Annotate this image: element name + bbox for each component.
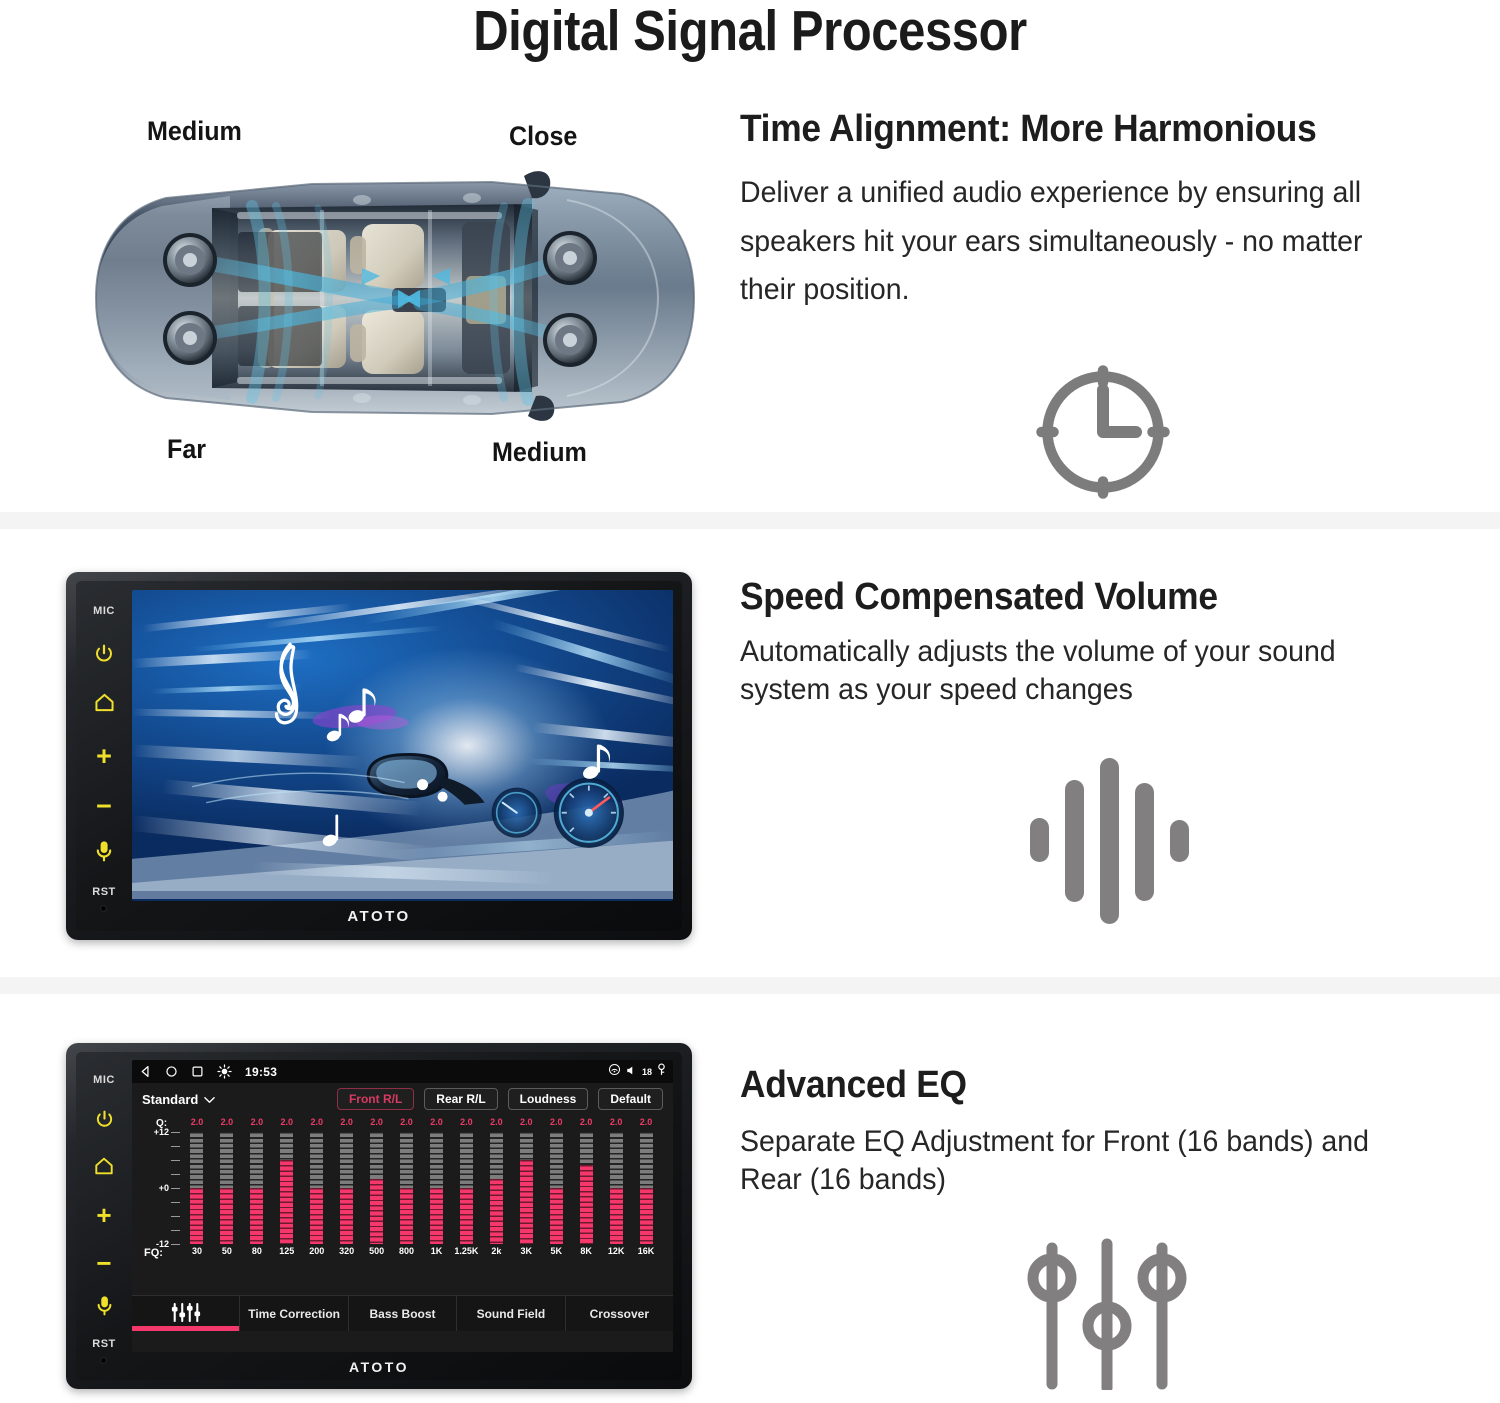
product-feature-page: Digital Signal Processor Medium Close Fa… <box>0 0 1500 1403</box>
eq-bar-fill <box>430 1188 443 1244</box>
eq-bar-fill <box>490 1179 503 1244</box>
eq-band[interactable] <box>541 1132 571 1244</box>
section-divider-2 <box>0 977 1500 994</box>
eq-band[interactable] <box>451 1132 481 1244</box>
tab-bass-boost[interactable]: Bass Boost <box>349 1296 457 1331</box>
frequency-label: 800 <box>392 1246 422 1260</box>
eq-app: 19:53 <box>132 1060 673 1352</box>
eq-bar-track[interactable] <box>550 1132 563 1244</box>
section-2-heading: Speed Compensated Volume <box>740 576 1410 619</box>
speaker-rear-left <box>163 233 217 287</box>
page-title: Digital Signal Processor <box>105 0 1395 64</box>
eq-toolbar: Standard Front R/L Rear R/L L <box>132 1083 673 1115</box>
eq-bar-track[interactable] <box>220 1132 233 1244</box>
frequency-label: 50 <box>212 1246 242 1260</box>
power-icon[interactable] <box>76 643 132 670</box>
driving-scene-wallpaper <box>132 590 673 901</box>
frequency-label: 8K <box>571 1246 601 1260</box>
frequency-label: 200 <box>302 1246 332 1260</box>
unit-inner-eq: MIC + − <box>76 1052 682 1380</box>
eq-bar-fill <box>610 1188 623 1244</box>
eq-band[interactable] <box>302 1132 332 1244</box>
eq-band[interactable] <box>392 1132 422 1244</box>
key-icon <box>657 1063 666 1081</box>
car-label-front-left: Medium <box>147 116 242 147</box>
frequency-label: 12K <box>601 1246 631 1260</box>
back-icon[interactable] <box>139 1065 152 1078</box>
clock-icon <box>1028 357 1178 507</box>
eq-band[interactable] <box>571 1132 601 1244</box>
car-speaker-diagram: Medium Close Far Medium <box>62 104 722 484</box>
eq-bar-track[interactable] <box>400 1132 413 1244</box>
eq-band[interactable] <box>212 1132 242 1244</box>
eq-sliders-icon <box>1026 1238 1188 1390</box>
eq-bar-fill <box>460 1188 473 1244</box>
eq-bar-fill <box>310 1188 323 1244</box>
car-topview-illustration <box>62 148 722 448</box>
eq-bar-track[interactable] <box>370 1132 383 1244</box>
preset-label: Standard <box>142 1092 198 1107</box>
q-value: 2.0 <box>362 1117 392 1131</box>
loudness-button[interactable]: Loudness <box>508 1088 589 1110</box>
axis-label-max: +12 <box>154 1127 169 1137</box>
brightness-icon[interactable] <box>217 1064 232 1079</box>
home-icon-nav[interactable] <box>165 1065 178 1078</box>
status-time: 19:53 <box>245 1065 277 1079</box>
head-unit-eq: MIC + − <box>66 1043 692 1389</box>
reset-label: RST <box>76 886 132 898</box>
q-value: 2.0 <box>571 1117 601 1131</box>
volume-icon <box>626 1063 637 1081</box>
q-value: 2.0 <box>631 1117 661 1131</box>
unit-inner: MIC + − <box>76 581 682 931</box>
q-value: 2.0 <box>451 1117 481 1131</box>
eq-bar-fill <box>340 1188 353 1244</box>
eq-bar-track[interactable] <box>580 1132 593 1244</box>
axis-label-mid: +0 <box>159 1183 169 1193</box>
q-values-row: 2.02.02.02.02.02.02.02.02.02.02.02.02.02… <box>182 1117 661 1131</box>
frequency-label: 125 <box>272 1246 302 1260</box>
q-value: 2.0 <box>481 1117 511 1131</box>
android-status-bar: 19:53 <box>132 1060 673 1083</box>
default-button[interactable]: Default <box>598 1088 663 1110</box>
unit-bezel-left: MIC + − <box>76 581 132 931</box>
eq-bar-fill <box>190 1188 203 1244</box>
eq-bar-fill <box>550 1188 563 1244</box>
eq-bar-track[interactable] <box>250 1132 263 1244</box>
eq-bar-group[interactable] <box>182 1132 661 1244</box>
eq-bar-track[interactable] <box>460 1132 473 1244</box>
power-icon-eq[interactable] <box>76 1109 132 1135</box>
eq-bar-track[interactable] <box>340 1132 353 1244</box>
q-value: 2.0 <box>392 1117 422 1131</box>
frequency-label: 320 <box>332 1246 362 1260</box>
section-3-heading: Advanced EQ <box>740 1064 1428 1107</box>
speaker-front-right-2 <box>543 313 597 367</box>
brand-label-eq: ATOTO <box>76 1354 682 1380</box>
eq-bar-fill <box>640 1188 653 1244</box>
chevron-down-icon <box>204 1092 215 1107</box>
eq-bar-fill <box>520 1160 533 1244</box>
recents-icon[interactable] <box>191 1065 204 1078</box>
equalizer-icon <box>170 1303 202 1325</box>
tab-time-correction[interactable]: Time Correction <box>240 1296 348 1331</box>
eq-bar-track[interactable] <box>520 1132 533 1244</box>
eq-bar-fill <box>400 1188 413 1244</box>
eq-band[interactable] <box>332 1132 362 1244</box>
head-unit-speed: MIC + − <box>66 572 692 940</box>
section-1-heading: Time Alignment: More Harmonious <box>740 108 1428 151</box>
frequency-label: 2k <box>481 1246 511 1260</box>
eq-bar-fill <box>220 1188 233 1244</box>
section-3-body: Separate EQ Adjustment for Front (16 ban… <box>740 1123 1424 1200</box>
frequency-label: 80 <box>242 1246 272 1260</box>
section-divider-1 <box>0 512 1500 529</box>
eq-band[interactable] <box>631 1132 661 1244</box>
eq-band[interactable] <box>362 1132 392 1244</box>
mic-label: MIC <box>76 605 132 617</box>
eq-band[interactable] <box>511 1132 541 1244</box>
eq-bar-fill <box>280 1160 293 1244</box>
head-unit-screen-eq[interactable]: 19:53 <box>132 1060 673 1352</box>
home-icon-eq[interactable] <box>76 1155 132 1182</box>
eq-tab-bar: Time Correction Bass Boost Sound Field C… <box>132 1295 673 1331</box>
eq-bar-fill <box>250 1188 263 1244</box>
front-rl-button[interactable]: Front R/L <box>337 1088 414 1110</box>
eq-bar-track[interactable] <box>310 1132 323 1244</box>
section-2-body: Automatically adjusts the volume of your… <box>740 633 1396 710</box>
q-value: 2.0 <box>212 1117 242 1131</box>
volume-up-icon-eq[interactable]: + <box>76 1202 132 1228</box>
rear-rl-button[interactable]: Rear R/L <box>424 1088 497 1110</box>
cast-icon <box>608 1063 621 1081</box>
tab-sound-field[interactable]: Sound Field <box>457 1296 565 1331</box>
frequency-label: 1.25K <box>451 1246 481 1260</box>
q-value: 2.0 <box>422 1117 452 1131</box>
axis-ticks <box>171 1132 180 1244</box>
brand-label: ATOTO <box>76 903 682 931</box>
frequency-label: 1K <box>422 1246 452 1260</box>
tab-equalizer[interactable] <box>132 1296 240 1331</box>
q-value: 2.0 <box>541 1117 571 1131</box>
reset-label-eq: RST <box>76 1338 132 1350</box>
home-icon[interactable] <box>76 691 132 719</box>
mic-label-eq: MIC <box>76 1074 132 1086</box>
volume-level: 18 <box>642 1067 652 1077</box>
frequency-label: 3K <box>511 1246 541 1260</box>
audio-waveform-icon <box>1020 752 1190 927</box>
q-value: 2.0 <box>272 1117 302 1131</box>
speaker-rear-left-2 <box>163 311 217 365</box>
eq-bar-track[interactable] <box>490 1132 503 1244</box>
eq-graph: Q: 2.02.02.02.02.02.02.02.02.02.02.02.02… <box>142 1117 661 1264</box>
tab-crossover[interactable]: Crossover <box>566 1296 673 1331</box>
eq-band[interactable] <box>272 1132 302 1244</box>
eq-band[interactable] <box>422 1132 452 1244</box>
volume-down-icon-eq[interactable]: − <box>76 1250 132 1276</box>
fq-row-label: FQ: <box>144 1247 163 1259</box>
eq-bar-track[interactable] <box>280 1132 293 1244</box>
head-unit-screen-speed[interactable] <box>132 590 673 901</box>
frequency-label: 500 <box>362 1246 392 1260</box>
q-value: 2.0 <box>242 1117 272 1131</box>
volume-down-icon[interactable]: − <box>76 793 132 820</box>
eq-axis: +12 +0 -12 <box>142 1132 182 1244</box>
eq-channel-buttons: Front R/L Rear R/L Loudness Default <box>337 1088 663 1110</box>
frequency-label: 5K <box>541 1246 571 1260</box>
frequency-label: 16K <box>631 1246 661 1260</box>
q-value: 2.0 <box>511 1117 541 1131</box>
eq-band[interactable] <box>182 1132 212 1244</box>
volume-up-icon[interactable]: + <box>76 743 132 770</box>
eq-bar-track[interactable] <box>190 1132 203 1244</box>
unit-bezel-left-eq: MIC + − <box>76 1052 132 1380</box>
speaker-front-right <box>543 231 597 285</box>
eq-bar-fill <box>580 1165 593 1244</box>
eq-bar-track[interactable] <box>610 1132 623 1244</box>
status-right-icons: 18 <box>608 1063 666 1081</box>
section-1-body: Deliver a unified audio experience by en… <box>740 169 1367 315</box>
q-value: 2.0 <box>182 1117 212 1131</box>
eq-band[interactable] <box>601 1132 631 1244</box>
eq-bar-track[interactable] <box>430 1132 443 1244</box>
eq-band[interactable] <box>481 1132 511 1244</box>
eq-bar-track[interactable] <box>640 1132 653 1244</box>
microphone-icon[interactable] <box>76 839 132 868</box>
q-value: 2.0 <box>332 1117 362 1131</box>
frequency-label: 30 <box>182 1246 212 1260</box>
eq-bar-fill <box>370 1179 383 1244</box>
preset-dropdown[interactable]: Standard <box>142 1092 215 1107</box>
frequency-labels-row: 3050801252003205008001K1.25K2k3K5K8K12K1… <box>182 1246 661 1260</box>
eq-band[interactable] <box>242 1132 272 1244</box>
q-value: 2.0 <box>601 1117 631 1131</box>
microphone-icon-eq[interactable] <box>76 1294 132 1322</box>
q-value: 2.0 <box>302 1117 332 1131</box>
